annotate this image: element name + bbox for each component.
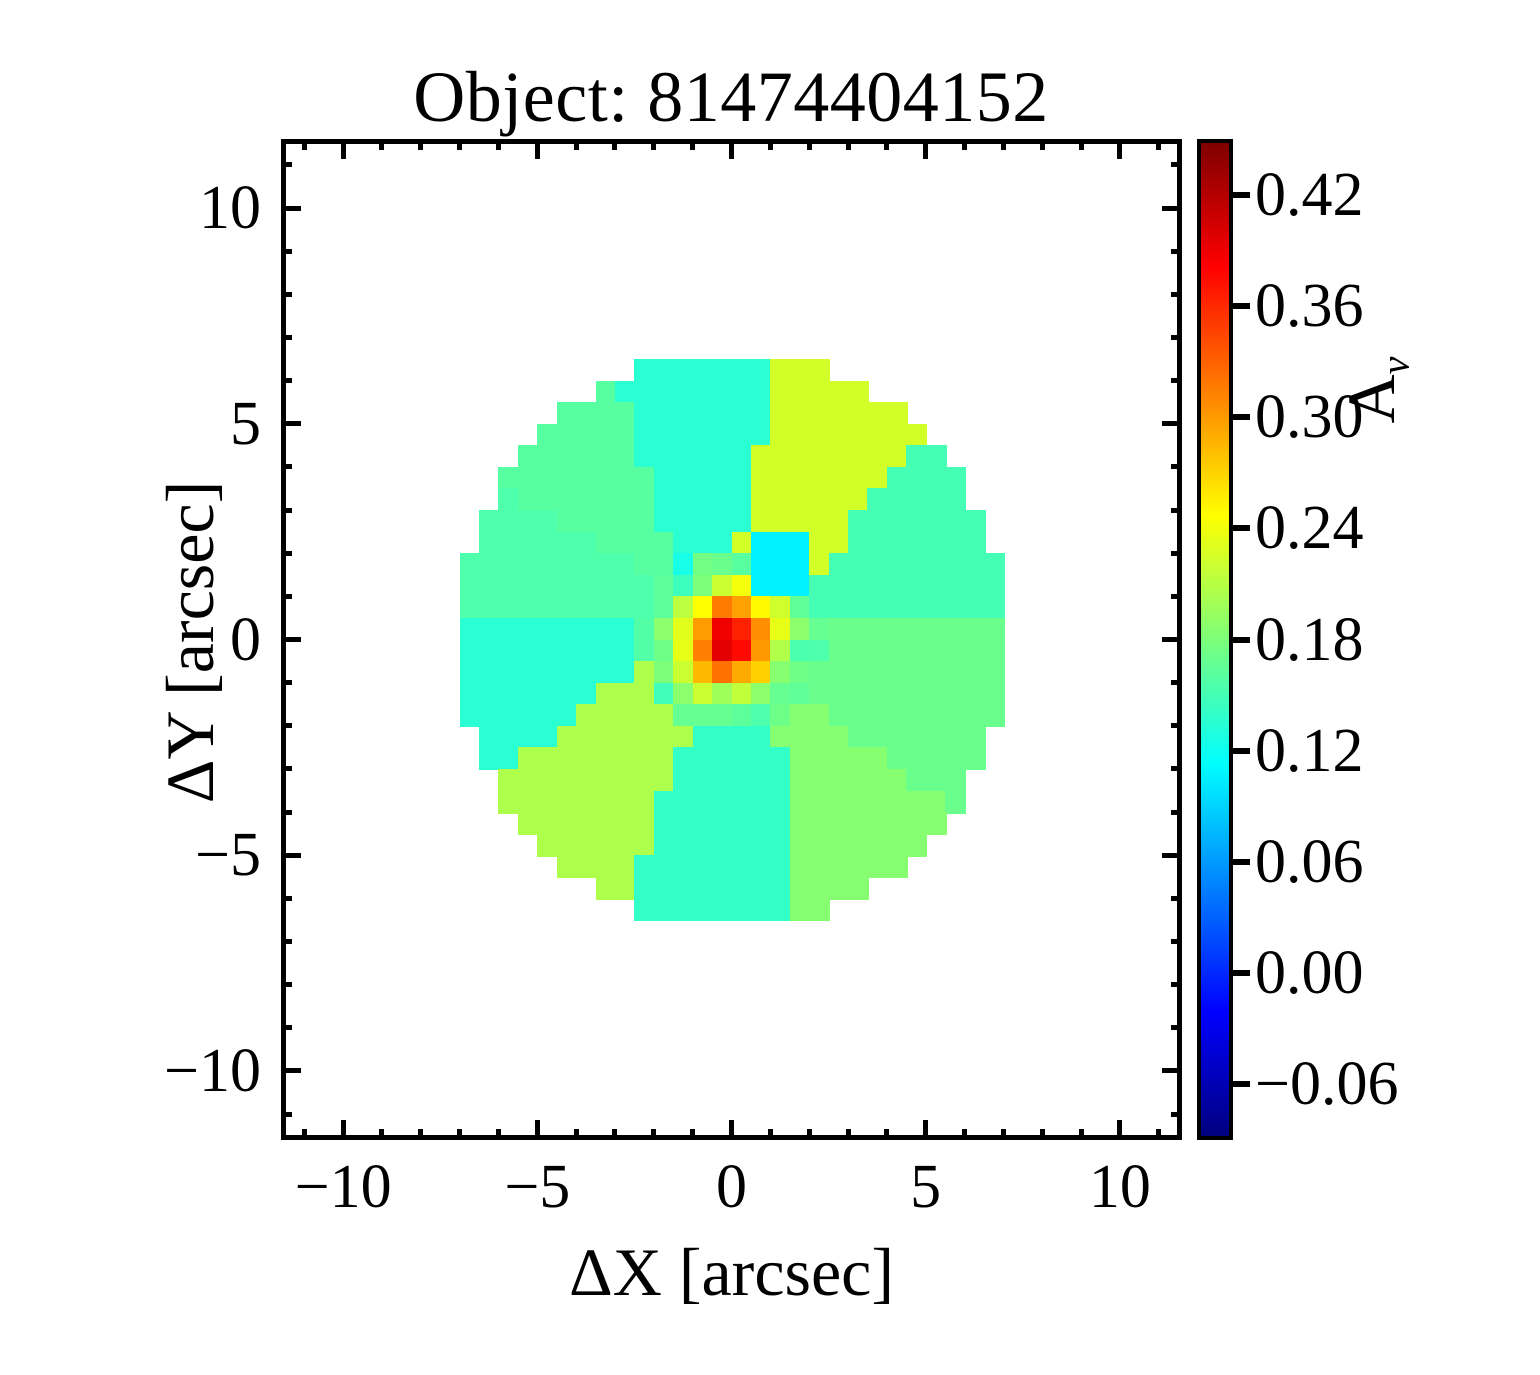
plot-axes-frame xyxy=(281,139,1182,1140)
y-tick-right--7 xyxy=(1171,939,1182,944)
x-tick-8 xyxy=(1040,1129,1045,1140)
y-tick--9 xyxy=(281,1025,292,1030)
y-tick-4 xyxy=(281,464,292,469)
x-tick-10 xyxy=(1117,1120,1122,1140)
x-tick-9 xyxy=(1079,1129,1084,1140)
y-tick--1 xyxy=(281,680,292,685)
x-tick--7 xyxy=(457,1129,462,1140)
x-tick-top-3 xyxy=(846,139,851,150)
x-tick-top-8 xyxy=(1040,139,1045,150)
colorbar-tick-0 xyxy=(1233,192,1250,198)
x-tick-7 xyxy=(1001,1129,1006,1140)
x-tick-top-10 xyxy=(1117,139,1122,159)
colorbar: 0.420.360.300.240.180.120.060.00−0.06 xyxy=(1197,139,1233,1140)
y-tick--7 xyxy=(281,939,292,944)
y-tick--10 xyxy=(281,1068,301,1073)
y-tick-11 xyxy=(281,162,292,167)
extinction-map xyxy=(286,144,1177,1135)
x-tick-top--8 xyxy=(418,139,423,150)
x-tick-top-4 xyxy=(884,139,889,150)
x-tick-top-5 xyxy=(923,139,928,159)
page-title: Object: 81474404152 xyxy=(281,58,1181,136)
x-tick-top--2 xyxy=(651,139,656,150)
y-tick-right-0 xyxy=(1162,637,1182,642)
x-tick-1 xyxy=(768,1129,773,1140)
x-tick--9 xyxy=(379,1129,384,1140)
y-tick-right--10 xyxy=(1162,1068,1182,1073)
x-tick-3 xyxy=(846,1129,851,1140)
x-tick-top-1 xyxy=(768,139,773,150)
x-tick-top-6 xyxy=(962,139,967,150)
y-tick-7 xyxy=(281,335,292,340)
x-tick-label-0: −10 xyxy=(295,1156,392,1218)
colorbar-label-text: A xyxy=(1333,374,1409,423)
x-tick--11 xyxy=(302,1129,307,1140)
x-tick-11 xyxy=(1156,1129,1161,1140)
x-tick-top-9 xyxy=(1079,139,1084,150)
y-tick-2 xyxy=(281,551,292,556)
x-tick-label-2: 0 xyxy=(716,1156,747,1218)
y-tick--11 xyxy=(281,1112,292,1117)
y-tick-3 xyxy=(281,508,292,513)
y-tick-right--11 xyxy=(1171,1112,1182,1117)
colorbar-tick-label-8: −0.06 xyxy=(1255,1053,1398,1115)
x-tick-label-4: 10 xyxy=(1089,1156,1151,1218)
y-tick-right-3 xyxy=(1171,508,1182,513)
x-tick-label-1: −5 xyxy=(504,1156,570,1218)
x-tick-top--4 xyxy=(574,139,579,150)
y-tick--4 xyxy=(281,810,292,815)
y-tick-right--8 xyxy=(1171,982,1182,987)
x-tick-top-2 xyxy=(807,139,812,150)
y-tick-right--5 xyxy=(1162,853,1182,858)
x-tick-top--9 xyxy=(379,139,384,150)
y-tick-10 xyxy=(281,206,301,211)
colorbar-tick-8 xyxy=(1233,1081,1250,1087)
colorbar-tick-label-4: 0.18 xyxy=(1255,609,1364,671)
y-tick-right-2 xyxy=(1171,551,1182,556)
y-tick--5 xyxy=(281,853,301,858)
y-tick-right--9 xyxy=(1171,1025,1182,1030)
y-tick-right-5 xyxy=(1162,421,1182,426)
x-tick--4 xyxy=(574,1129,579,1140)
x-tick-top--5 xyxy=(535,139,540,159)
x-tick-top-11 xyxy=(1156,139,1161,150)
figure-canvas: Object: 81474404152 −10−505101050−5−10 Δ… xyxy=(0,0,1540,1375)
y-tick-right-11 xyxy=(1171,162,1182,167)
y-tick-right--3 xyxy=(1171,766,1182,771)
x-tick--3 xyxy=(612,1129,617,1140)
colorbar-tick-label-7: 0.00 xyxy=(1255,942,1364,1004)
y-axis-label: ΔY [arcsec] xyxy=(153,142,227,1142)
colorbar-tick-3 xyxy=(1233,525,1250,531)
x-axis-label: ΔX [arcsec] xyxy=(281,1235,1182,1309)
y-tick-right-9 xyxy=(1171,249,1182,254)
y-tick-8 xyxy=(281,292,292,297)
y-tick-right-4 xyxy=(1171,464,1182,469)
x-tick--6 xyxy=(496,1129,501,1140)
x-tick-label-3: 5 xyxy=(910,1156,941,1218)
y-tick-right--6 xyxy=(1171,896,1182,901)
x-tick-top--6 xyxy=(496,139,501,150)
y-tick--8 xyxy=(281,982,292,987)
x-tick--8 xyxy=(418,1129,423,1140)
colorbar-label-subscript: v xyxy=(1373,357,1418,375)
x-tick-top--11 xyxy=(302,139,307,150)
y-tick-1 xyxy=(281,594,292,599)
x-tick-top-0 xyxy=(729,139,734,159)
x-tick--5 xyxy=(535,1120,540,1140)
y-tick-right-1 xyxy=(1171,594,1182,599)
y-tick-0 xyxy=(281,637,301,642)
x-tick-2 xyxy=(807,1129,812,1140)
x-tick--10 xyxy=(341,1120,346,1140)
colorbar-tick-6 xyxy=(1233,859,1250,865)
colorbar-tick-7 xyxy=(1233,970,1250,976)
colorbar-gradient xyxy=(1197,139,1233,1140)
colorbar-tick-label-6: 0.06 xyxy=(1255,831,1364,893)
colorbar-tick-5 xyxy=(1233,748,1250,754)
colorbar-tick-1 xyxy=(1233,303,1250,309)
colorbar-tick-4 xyxy=(1233,637,1250,643)
x-tick-top--7 xyxy=(457,139,462,150)
y-tick--2 xyxy=(281,723,292,728)
y-tick--3 xyxy=(281,766,292,771)
y-tick-9 xyxy=(281,249,292,254)
y-tick-right-8 xyxy=(1171,292,1182,297)
x-tick-0 xyxy=(729,1120,734,1140)
x-tick--2 xyxy=(651,1129,656,1140)
y-tick-right-6 xyxy=(1171,378,1182,383)
x-tick-top-7 xyxy=(1001,139,1006,150)
colorbar-axis-label: Av xyxy=(1335,190,1432,590)
x-tick-top--10 xyxy=(341,139,346,159)
x-tick-6 xyxy=(962,1129,967,1140)
x-tick-5 xyxy=(923,1120,928,1140)
y-tick-right-10 xyxy=(1162,206,1182,211)
y-tick-right--1 xyxy=(1171,680,1182,685)
x-tick-top--3 xyxy=(612,139,617,150)
y-tick-right--4 xyxy=(1171,810,1182,815)
y-tick-right-7 xyxy=(1171,335,1182,340)
colorbar-tick-2 xyxy=(1233,414,1250,420)
colorbar-tick-label-5: 0.12 xyxy=(1255,720,1364,782)
y-tick-5 xyxy=(281,421,301,426)
x-tick-4 xyxy=(884,1129,889,1140)
x-tick-top--1 xyxy=(690,139,695,150)
y-tick--6 xyxy=(281,896,292,901)
y-tick-right--2 xyxy=(1171,723,1182,728)
y-tick-6 xyxy=(281,378,292,383)
x-tick--1 xyxy=(690,1129,695,1140)
